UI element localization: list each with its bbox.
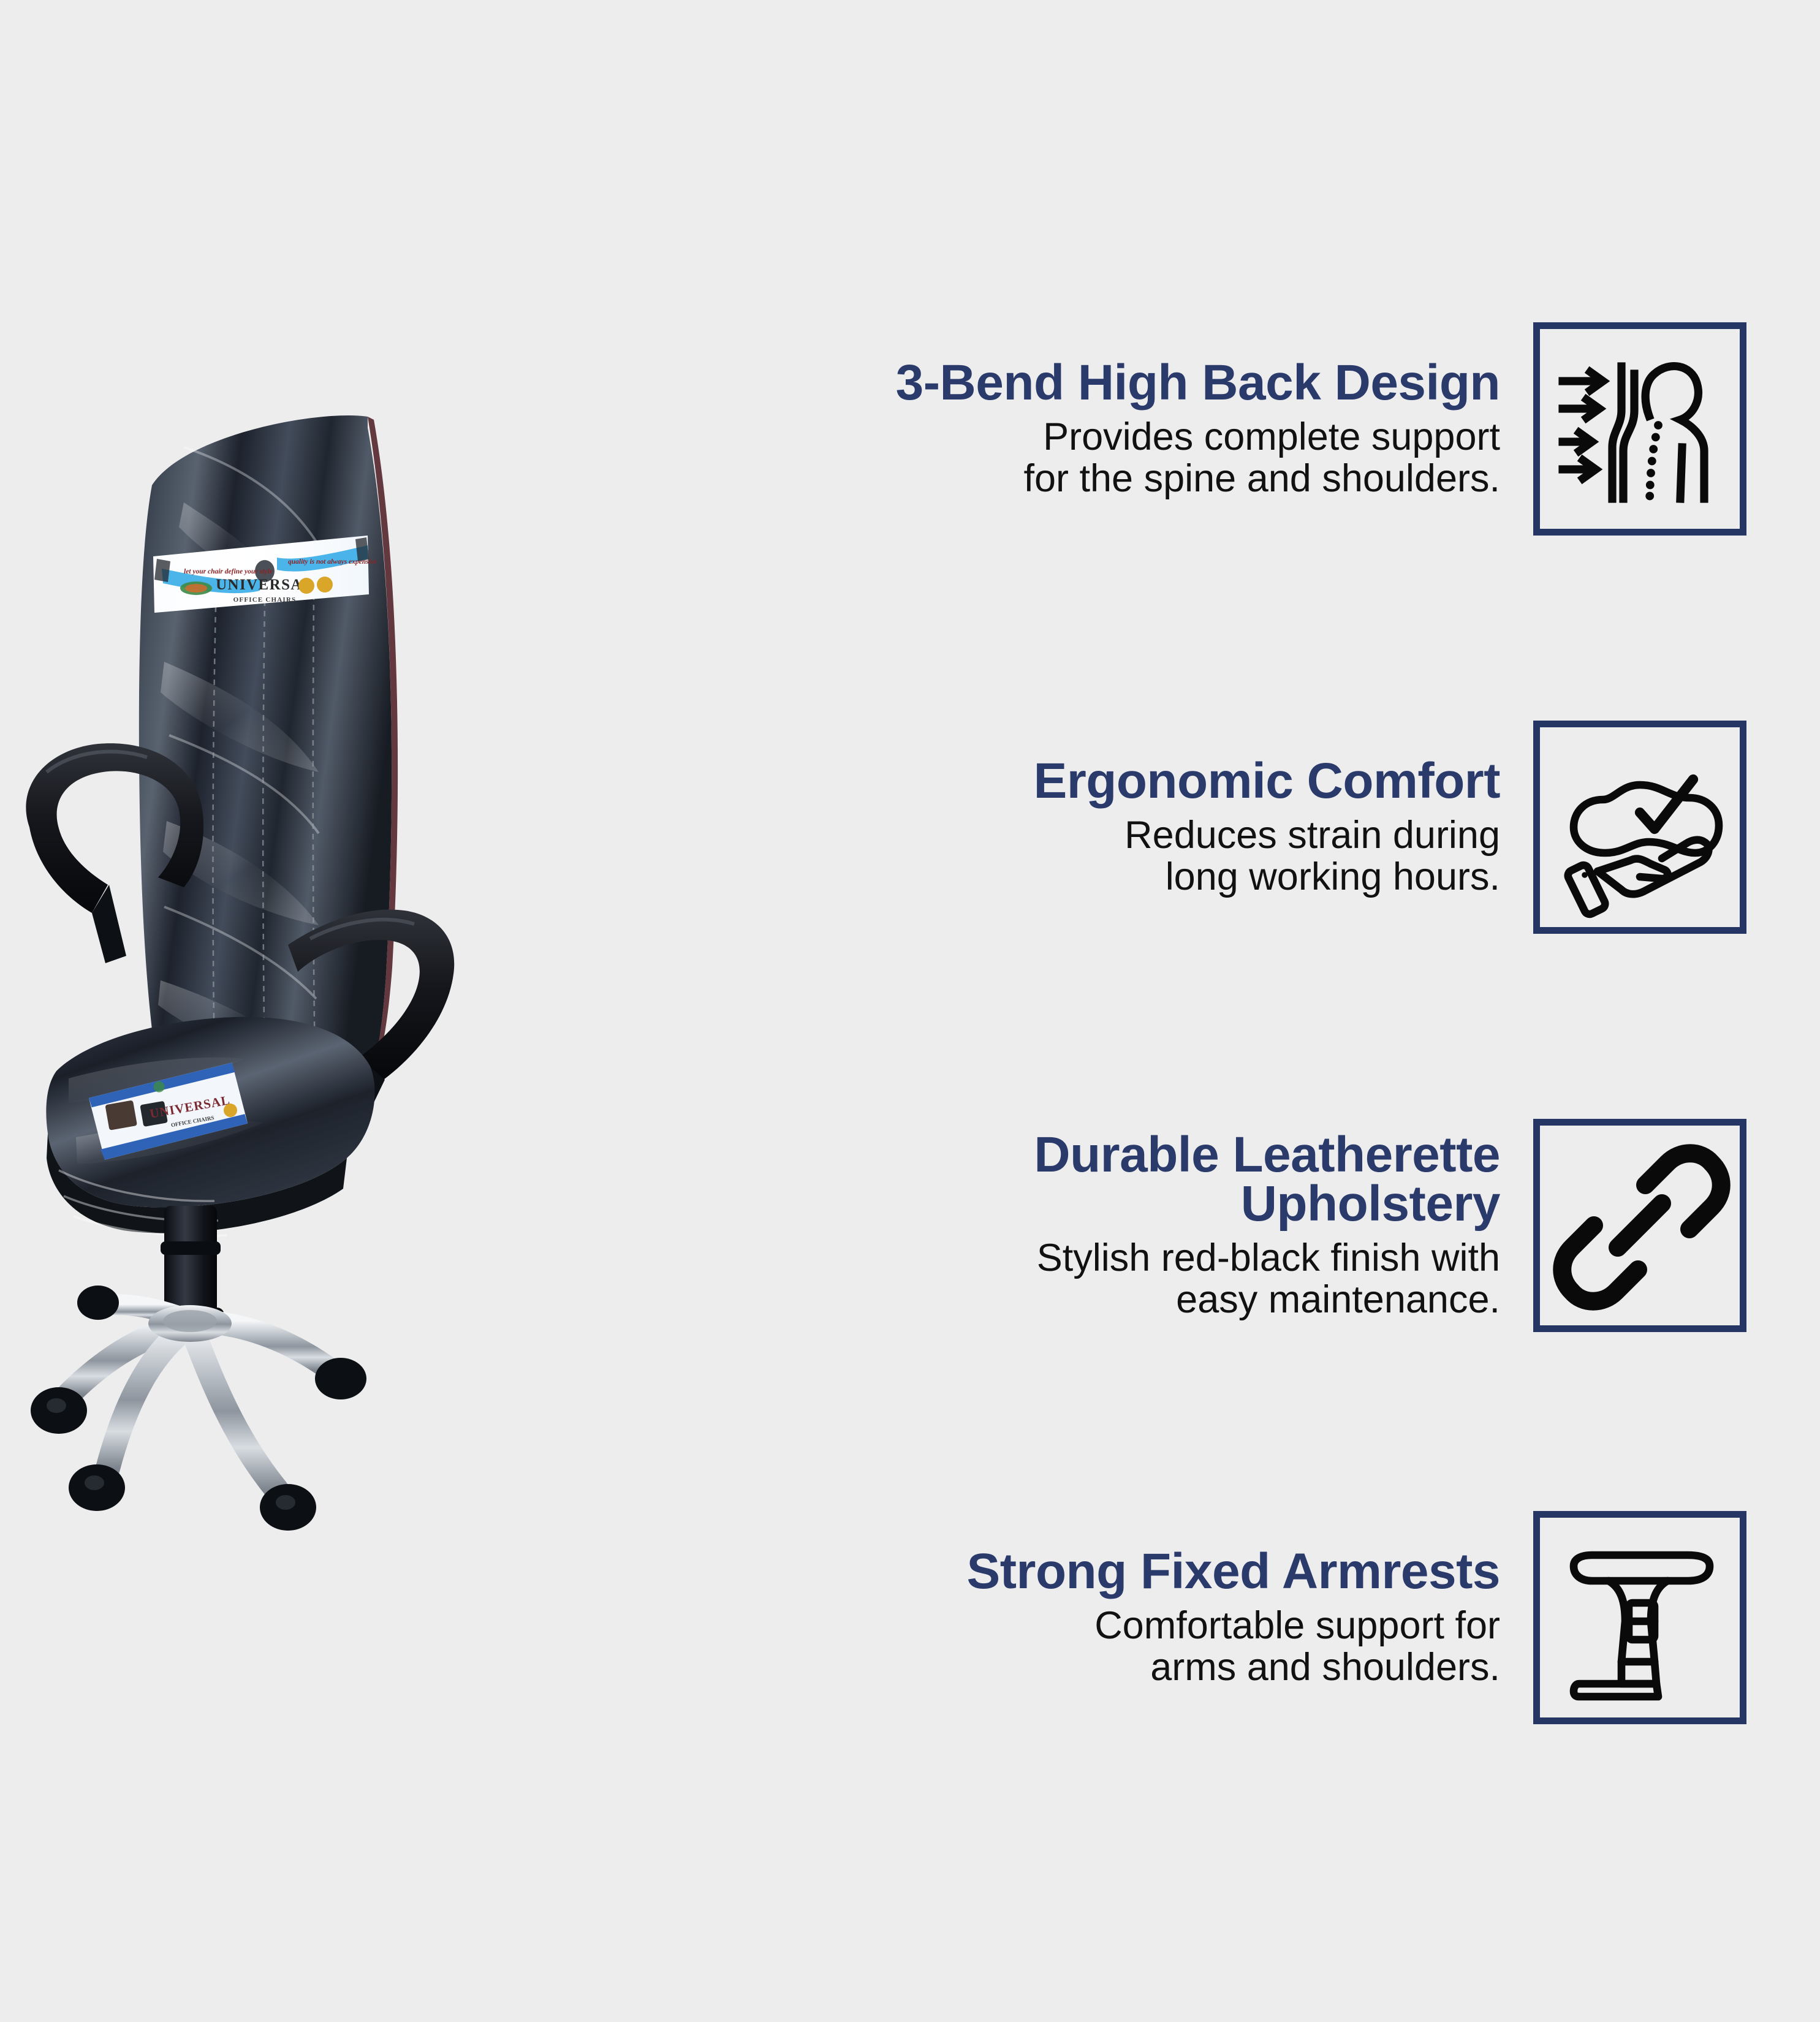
feature-icon-box xyxy=(1533,721,1746,934)
chair-seat: UNIVERSAL OFFICE CHAIRS xyxy=(46,1017,374,1236)
feature-description: Comfortable support for arms and shoulde… xyxy=(705,1605,1500,1688)
feature-title: Durable Leatherette Upholstery xyxy=(705,1130,1500,1229)
feature-text-block: 3-Bend High Back Design Provides complet… xyxy=(705,358,1503,499)
chain-link-icon xyxy=(1548,1134,1732,1317)
feature-description: Reduces strain during long working hours… xyxy=(705,814,1500,898)
feature-row-durable-leatherette-upholstery: Durable Leatherette Upholstery Stylish r… xyxy=(705,1103,1746,1348)
feature-text-block: Durable Leatherette Upholstery Stylish r… xyxy=(705,1130,1503,1321)
svg-text:OFFICE CHAIRS: OFFICE CHAIRS xyxy=(233,596,297,604)
feature-title: Ergonomic Comfort xyxy=(705,757,1500,806)
feature-text-block: Strong Fixed Armrests Comfortable suppor… xyxy=(705,1547,1503,1688)
posture-spine-arrows-icon xyxy=(1548,337,1732,521)
feature-title: 3-Bend High Back Design xyxy=(705,358,1500,407)
feature-icon-box xyxy=(1533,1119,1746,1332)
feature-row-strong-fixed-armrests: Strong Fixed Armrests Comfortable suppor… xyxy=(705,1495,1746,1740)
feature-title: Strong Fixed Armrests xyxy=(705,1547,1500,1596)
feature-icon-box xyxy=(1533,322,1746,536)
armrest-icon xyxy=(1548,1526,1732,1710)
product-photo: UNIVERSAL OFFICE CHAIRS let your chair d… xyxy=(0,343,791,1752)
feature-description: Provides complete support for the spine … xyxy=(705,416,1500,499)
infographic-canvas: UNIVERSAL OFFICE CHAIRS let your chair d… xyxy=(0,0,1820,2022)
feature-row-three-bend-high-back-design: 3-Bend High Back Design Provides complet… xyxy=(705,306,1746,551)
feature-text-block: Ergonomic Comfort Reduces strain during … xyxy=(705,757,1503,898)
svg-text:let your chair define your sty: let your chair define your style xyxy=(184,568,273,575)
hand-holding-checkmark-icon xyxy=(1548,735,1732,919)
feature-icon-box xyxy=(1533,1511,1746,1724)
feature-list: 3-Bend High Back Design Provides complet… xyxy=(705,270,1746,1771)
feature-row-ergonomic-comfort: Ergonomic Comfort Reduces strain during … xyxy=(705,705,1746,950)
feature-description: Stylish red-black finish with easy maint… xyxy=(705,1237,1500,1320)
